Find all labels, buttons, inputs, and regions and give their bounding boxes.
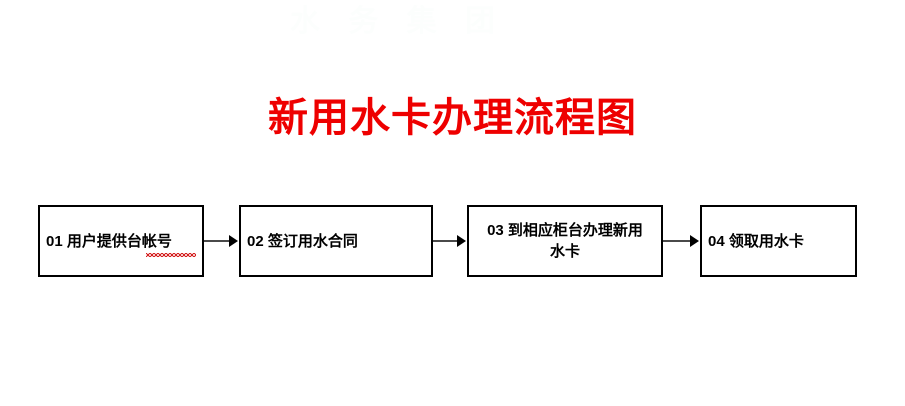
flow-row: 01 用户提供台帐号 02 签订用水合同 03 到相应柜台办理新用 水卡 <box>0 205 905 279</box>
connector-arrow-01-02 <box>204 235 239 247</box>
page-title: 新用水卡办理流程图 <box>0 92 905 144</box>
connector-arrow-03-04 <box>663 235 700 247</box>
arrow-right-icon <box>457 235 466 247</box>
connector-arrow-02-03 <box>433 235 467 247</box>
arrow-shaft <box>204 240 230 242</box>
flow-node-04[interactable]: 04 领取用水卡 <box>700 205 857 277</box>
flow-node-04-label: 04 领取用水卡 <box>702 231 810 252</box>
flowchart-canvas: 水 务 集 团 新用水卡办理流程图 01 用户提供台帐号 02 签订用水合同 0… <box>0 0 905 406</box>
page-watermark: 水 务 集 团 <box>290 2 620 42</box>
flow-node-01[interactable]: 01 用户提供台帐号 <box>38 205 204 277</box>
arrow-right-icon <box>229 235 238 247</box>
arrow-shaft <box>663 240 691 242</box>
arrow-shaft <box>433 240 458 242</box>
spellcheck-underline-icon <box>146 253 196 257</box>
flow-node-03[interactable]: 03 到相应柜台办理新用 水卡 <box>467 205 663 277</box>
arrow-right-icon <box>690 235 699 247</box>
flow-node-02[interactable]: 02 签订用水合同 <box>239 205 433 277</box>
flow-node-01-label: 01 用户提供台帐号 <box>40 231 178 252</box>
flow-node-03-label: 03 到相应柜台办理新用 水卡 <box>481 220 649 262</box>
flow-node-02-label: 02 签订用水合同 <box>241 231 364 252</box>
